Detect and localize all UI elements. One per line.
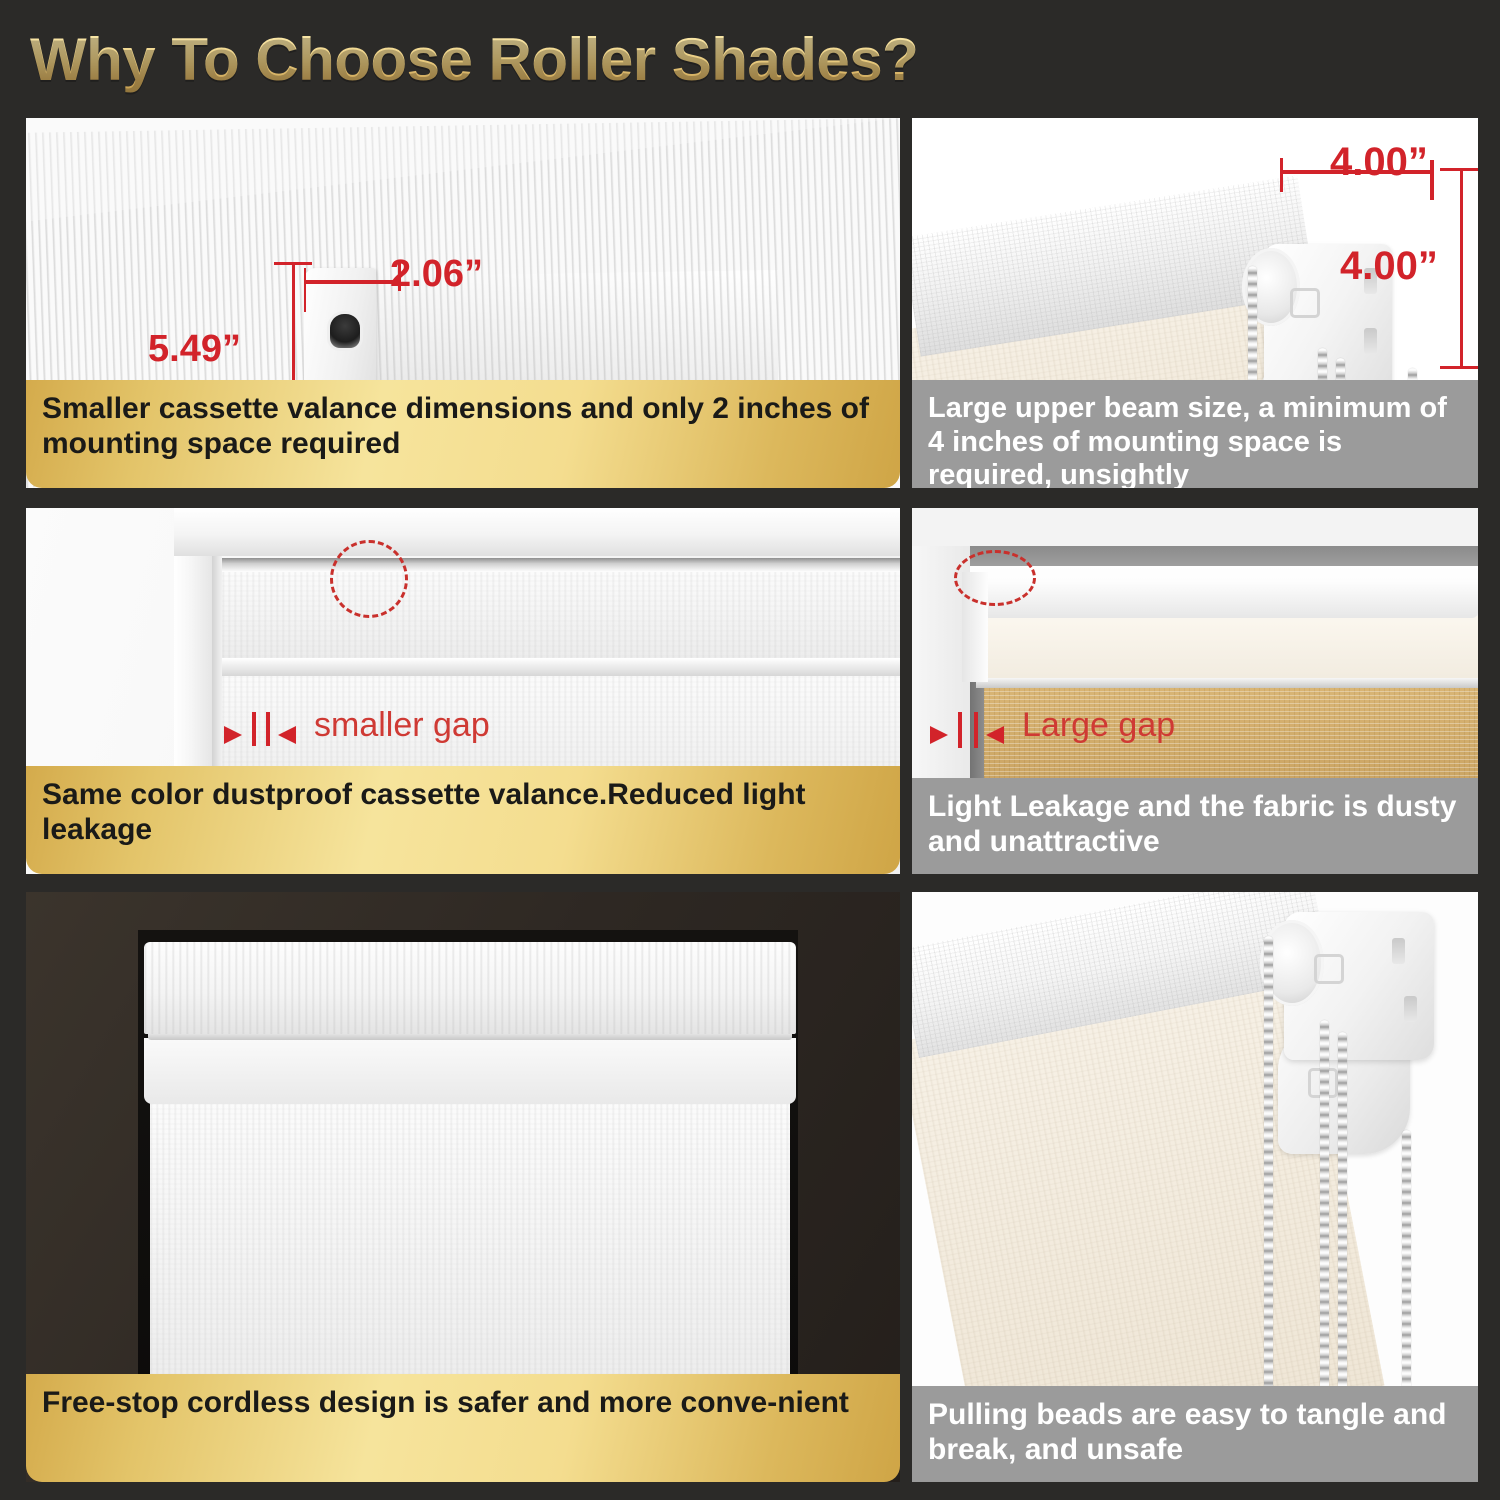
panel-cassette-valance: 2.06” 5.49” Smaller cassette valance dim… <box>26 118 900 488</box>
panel-cordless-design: Free-stop cordless design is safer and m… <box>26 892 900 1482</box>
panel-large-upper-beam: 4.00” 4.00” Large upper beam size, a min… <box>912 118 1478 488</box>
bead-chain <box>1338 1032 1347 1436</box>
caption-light-leakage: Light Leakage and the fabric is dusty an… <box>912 778 1478 874</box>
page-title: Why To Choose Roller Shades? <box>30 22 1230 98</box>
dimension-label-width: 2.06” <box>390 253 483 296</box>
caption-large-upper-beam: Large upper beam size, a minimum of 4 in… <box>912 380 1478 488</box>
bead-chain <box>1320 1020 1329 1436</box>
dimension-label-height: 4.00” <box>1340 244 1438 289</box>
dimension-label-width: 4.00” <box>1330 140 1428 185</box>
caption-pulling-beads: Pulling beads are easy to tangle and bre… <box>912 1386 1478 1482</box>
caption-dustproof-cassette: Same color dustproof cassette valance.Re… <box>26 766 900 874</box>
caption-cordless-design: Free-stop cordless design is safer and m… <box>26 1374 900 1482</box>
panel-pulling-beads: Pulling beads are easy to tangle and bre… <box>912 892 1478 1482</box>
bead-chain <box>1264 936 1273 1436</box>
panel-dustproof-cassette: smaller gap Same color dustproof cassett… <box>26 508 900 874</box>
gap-callout-label: smaller gap <box>314 706 490 745</box>
dimension-label-height: 5.49” <box>148 328 241 371</box>
infographic-root: Why To Choose Roller Shades? 2.06” 5.49” <box>0 0 1500 1500</box>
panel-light-leakage: Large gap Light Leakage and the fabric i… <box>912 508 1478 874</box>
caption-cassette-valance: Smaller cassette valance dimensions and … <box>26 380 900 488</box>
highlight-circle <box>330 540 408 618</box>
gap-callout-label: Large gap <box>1022 706 1175 745</box>
highlight-circle <box>954 550 1036 606</box>
